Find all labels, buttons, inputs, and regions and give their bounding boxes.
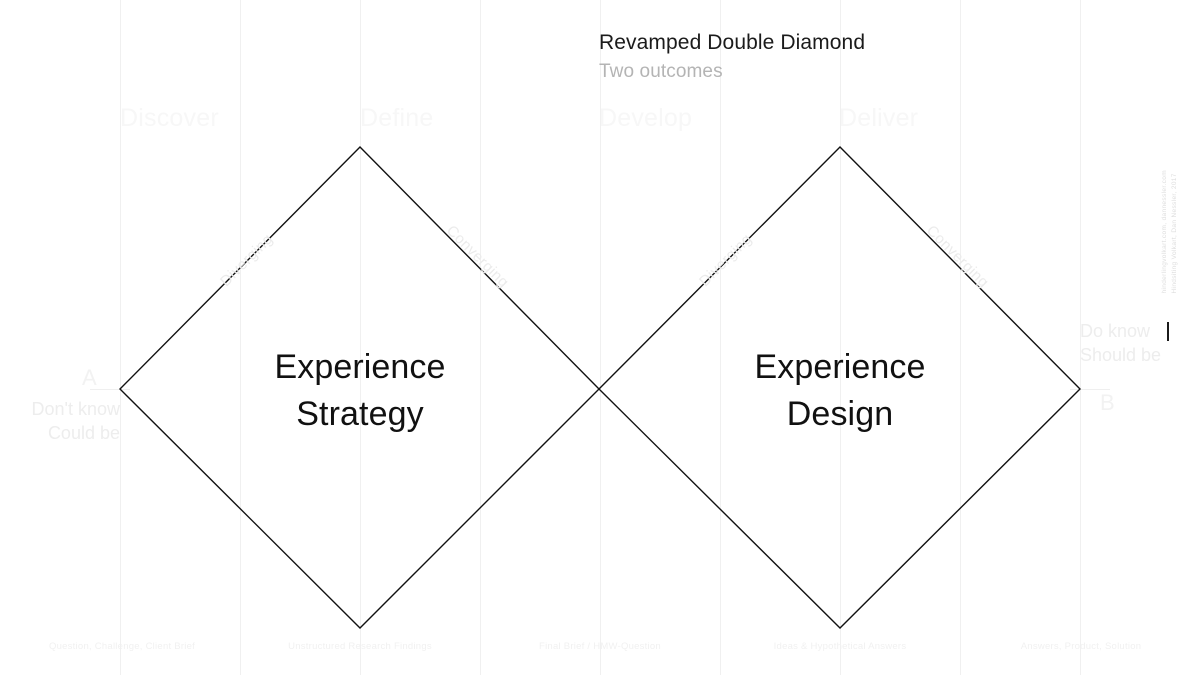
diamond-title-design-line1: Experience (720, 344, 960, 391)
page-title: Revamped Double Diamond (599, 30, 865, 57)
credit-tick-mark (1167, 322, 1169, 341)
endpoint-a-line1: Don't know (0, 398, 120, 422)
header: Revamped Double DiamondTwo outcomes (599, 30, 865, 85)
diamond-title-strategy-line2: Strategy (240, 391, 480, 438)
credit-line-1: Hindsiting Volkart, Dan Nessler, 2017 (1171, 170, 1178, 294)
diamond-title-strategy: Experience Strategy (240, 344, 480, 437)
endpoint-letter-b: B (1100, 390, 1115, 416)
bottom-caption-ideas: Ideas & Hypothetical Answers (774, 641, 907, 652)
bottom-caption-brief: Final Brief / HMW-Question (539, 641, 661, 652)
bottom-caption-define: Unstructured Research Findings (288, 641, 432, 652)
bottom-caption-answers: Answers, Product, Solution (1021, 641, 1142, 652)
diamond-shapes (0, 0, 1200, 675)
endpoint-text-a: Don't know Could be (0, 398, 120, 446)
endpoint-b-line1: Do know (1080, 320, 1200, 344)
diamond-title-strategy-line1: Experience (240, 344, 480, 391)
bottom-caption-discover: Question, Challenge, Client Brief (49, 641, 195, 652)
diamond-title-design-line2: Design (720, 391, 960, 438)
endpoint-letter-a: A (82, 365, 97, 391)
endpoint-b-line2: Should be (1080, 344, 1200, 368)
diamond-title-design: Experience Design (720, 344, 960, 437)
page-subtitle: Two outcomes (599, 60, 865, 85)
credit-block: Hindsiting Volkart, Dan Nessler, 2017 hi… (1161, 170, 1178, 294)
endpoint-text-b: Do know Should be (1080, 320, 1200, 368)
double-diamond-diagram: Discover Define Develop Deliver Experien… (0, 0, 1200, 675)
endpoint-a-line2: Could be (0, 422, 120, 446)
credit-line-2: hinderlingvolkart.com, dannessler.com (1161, 170, 1168, 294)
